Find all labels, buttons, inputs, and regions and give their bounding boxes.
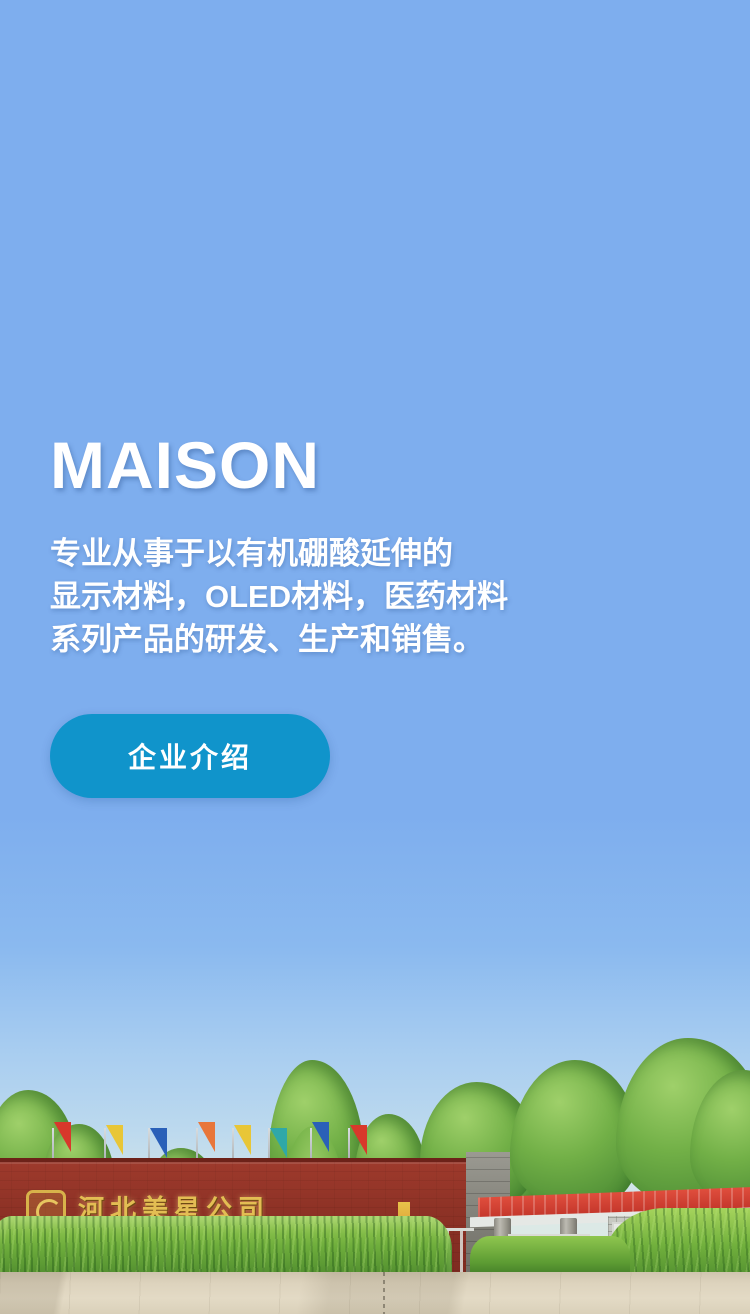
hero-tagline: 专业从事于以有机硼酸延伸的 显示材料，OLED材料，医药材料 系列产品的研发、生…: [50, 532, 508, 661]
tagline-line-1: 专业从事于以有机硼酸延伸的: [50, 532, 508, 575]
brand-title: MAISON: [50, 430, 320, 500]
tagline-line-2: 显示材料，OLED材料，医药材料: [50, 575, 508, 618]
hero-content: MAISON 专业从事于以有机硼酸延伸的 显示材料，OLED材料，医药材料 系列…: [50, 0, 710, 1314]
hero-page: 河北美星公司 MAISON CHEMICAL MAISON 专业从事于以有机硼酸…: [0, 0, 750, 1314]
tagline-line-3: 系列产品的研发、生产和销售。: [50, 618, 508, 661]
company-intro-button[interactable]: 企业介绍: [50, 714, 330, 798]
